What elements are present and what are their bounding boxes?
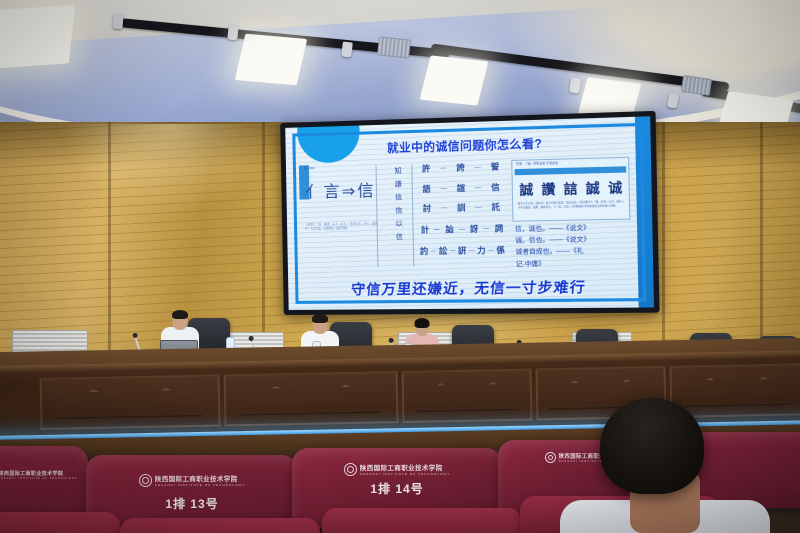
seat-logo: 陕西国际工商职业技术学院 SHAANXI INSTITUTE OF TECHNO… [86,473,298,487]
slide-column-left: 信 xìn 亻言⇒信 《说文》：「信，诚也。从人，从言。」古文从言，从心。会意字… [304,163,378,269]
slide-quote-line: 记·中庸》 [516,257,632,270]
seat-logo: 陕西国际工商职业技术学院 SHAANXI INSTITUTE OF TECHNO… [0,468,88,481]
ceiling-panel-light [0,5,75,70]
wall-seam [108,122,111,372]
projection-screen: 就业中的诚信问题你怎么看? 信 xìn 亻言⇒信 《说文》：「信，诚也。从人，从… [285,116,654,310]
university-seal-icon [344,463,357,476]
slide-card-glyphs: 誠讚誩誠诚 [513,175,629,199]
seat-university-cn: 陕西国际工商职业技术学院 [155,473,245,483]
seat-university-en: SHAANXI INSTITUTE OF TECHNOLOGY [155,483,245,487]
slide-divider [411,165,414,267]
slide-evolution-row: 語— 諠— 信 [417,182,504,195]
seat-university-en: SHAANXI INSTITUTE OF TECHNOLOGY [0,477,77,480]
slide-slogan: 守信万里还嫌近，无信一寸步难行 [287,276,654,300]
student-head [600,398,704,494]
seat-university-cn: 陕西国际工商职业技术学院 [360,462,450,472]
wall-seam [760,122,763,372]
seat-logo: 陕西国际工商职业技术学院 SHAANXI INSTITUTE OF TECHNO… [292,462,502,476]
wall-light-glow [60,124,280,214]
slide-left-pictograph: 亻言⇒信 [304,182,377,202]
desk-panel-inset [402,369,533,423]
seat-cushion [120,518,320,533]
slide-evolution-row: 許— 誇— 誓 [417,161,504,175]
desk-panel-inset [669,363,800,418]
seat-cushion [0,512,120,533]
university-seal-icon [139,474,152,487]
slide-divider [375,166,378,267]
slide-card-note: 诚字从言从成，成亦声。本义为真心实意、真实无妄。《说文解字》：「诚，信也。从言，… [513,197,629,214]
slide-quotes: 信，诚也。——《说文》 诚，信也。——《说文》 诚者自成也。——《礼 记·中庸》 [515,222,631,270]
slide-evolution-row: 討— 訓— 託 [418,201,505,214]
slide-left-label: 信 xìn [304,163,376,171]
ceiling-panel-light [235,34,307,86]
slide-vertical-text: 知 謙 信 信 以 信 [391,167,403,242]
slide-left-caption: 《说文》：「信，诚也。从人，从言。」古文从言，从心。会意字，人言为信，言而有信，… [305,223,378,232]
ceiling-panel-light [420,55,489,105]
spotlight-icon [227,25,239,41]
lecture-hall-photo: 就业中的诚信问题你怎么看? 信 xìn 亻言⇒信 《说文》：「信，诚也。从人，从… [0,0,800,533]
slide-evolution-row: 計— 訕— 訝— 詞 [418,223,505,236]
slide-column-evolution: 許— 誇— 誓 語— 諠— 信 討— 訓— 託 計— [417,160,506,268]
seat-number: 1排 13号 [86,495,298,512]
slide-column-right: 字源 · 「诚」字形演变 字源演变 誠讚誩誠诚 诚字从言从成，成亦声。本义为真心… [510,157,634,267]
speaker-right-hair [415,318,430,328]
projection-screen-frame: 就业中的诚信问题你怎么看? 信 xìn 亻言⇒信 《说文》：「信，诚也。从人，从… [280,111,659,315]
ceiling-air-vent [377,36,411,58]
university-seal-icon [545,452,556,463]
slide-card-header-bar [515,166,626,175]
speaker-center-hair [312,314,328,323]
slide-evolution-row: 訋— 訟— 訮— 力— 係 [419,245,506,258]
slide-etymology-card: 字源 · 「诚」字形演变 字源演变 誠讚誩誠诚 诚字从言从成，成亦声。本义为真心… [512,157,631,222]
seat-number: 1排 14号 [292,480,502,497]
desk-panel-inset [40,375,221,430]
slide-column-vertical: 知 謙 信 信 以 信 [381,163,414,269]
wall-seam [662,122,665,372]
speaker-left-hair [172,310,188,319]
desk-panel-inset [224,371,399,426]
slide-body: 信 xìn 亻言⇒信 《说文》：「信，诚也。从人，从言。」古文从言，从心。会意字… [304,157,634,270]
spotlight-icon [341,41,353,57]
seat-university-en: SHAANXI INSTITUTE OF TECHNOLOGY [360,472,450,476]
seat-cushion [322,508,522,533]
spotlight-icon [112,14,123,30]
seat-university-cn: 陕西国际工商职业技术学院 [0,470,77,477]
